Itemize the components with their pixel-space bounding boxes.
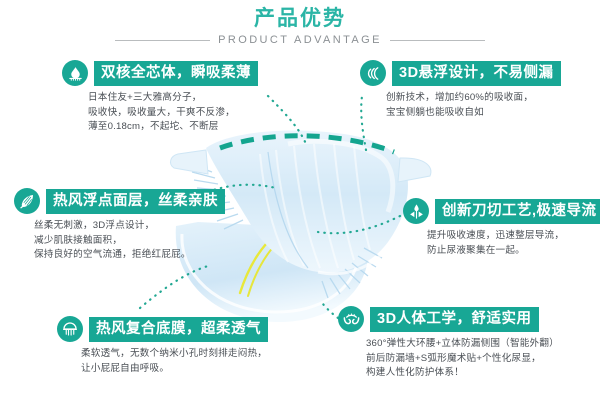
- feature-composite-base-film[interactable]: 热风复合底膜，超柔透气 柔软透气，无数个纳米小孔时刻排走闷热， 让小屁屁自由呼吸…: [57, 316, 268, 376]
- feature-heading: 3D悬浮设计，不易侧漏: [392, 61, 561, 86]
- fastener-tab-left: [171, 150, 208, 174]
- infographic-canvas: 产品优势 PRODUCT ADVANTAGE: [0, 0, 600, 401]
- feature-body: 日本住友+三大雅高分子， 吸收快，吸收量大，干爽不反渗， 薄至0.18cm，不起…: [88, 91, 258, 135]
- breathable-cloud-icon: [57, 316, 83, 342]
- feature-heading-row: 双核全芯体，瞬吸柔薄: [62, 60, 258, 86]
- ergonomic-waist-icon: [338, 306, 364, 332]
- feature-heading-row: 热风复合底膜，超柔透气: [57, 316, 268, 342]
- feature-heading: 3D人体工学，舒适实用: [370, 307, 539, 332]
- page-subtitle: PRODUCT ADVANTAGE: [218, 34, 382, 46]
- subtitle-row: PRODUCT ADVANTAGE: [0, 34, 600, 46]
- feature-body: 丝柔无刺激，3D浮点设计， 减少肌肤接触面积， 保持良好的空气流通，拒绝红屁屁。: [34, 219, 225, 263]
- arc-waves-icon: [360, 60, 386, 86]
- feature-heading: 双核全芯体，瞬吸柔薄: [94, 61, 258, 86]
- feature-body: 创新技术，增加约60%的吸收面， 宝宝侧躺也能吸收自如: [386, 91, 561, 120]
- feather-icon: [14, 188, 40, 214]
- absorb-droplet-icon: [62, 60, 88, 86]
- flow-channel-icon: [403, 198, 429, 224]
- feature-dual-core[interactable]: 双核全芯体，瞬吸柔薄 日本住友+三大雅高分子， 吸收快，吸收量大，干爽不反渗， …: [62, 60, 258, 135]
- feature-heading-row: 3D人体工学，舒适实用: [338, 306, 559, 332]
- subtitle-rule-right: [390, 40, 485, 41]
- feature-heading-row: 3D悬浮设计，不易侧漏: [360, 60, 561, 86]
- feature-heading-row: 热风浮点面层，丝柔亲肤: [14, 188, 225, 214]
- feature-knife-cut[interactable]: 创新刀切工艺,极速导流 提升吸收速度，迅速整层导流， 防止尿液聚集在一起。: [403, 198, 600, 258]
- feature-heading: 热风复合底膜，超柔透气: [89, 317, 268, 342]
- fastener-tab-right: [398, 158, 431, 182]
- feature-3d-ergonomics[interactable]: 3D人体工学，舒适实用 360°弹性大环腰+立体防漏侧围（智能外翻） 前后防漏墙…: [338, 306, 559, 381]
- subtitle-rule-left: [115, 40, 210, 41]
- feature-body: 柔软透气，无数个纳米小孔时刻排走闷热， 让小屁屁自由呼吸。: [81, 347, 268, 376]
- feature-heading: 热风浮点面层，丝柔亲肤: [46, 189, 225, 214]
- feature-heading: 创新刀切工艺,极速导流: [435, 199, 600, 224]
- feature-3d-suspension[interactable]: 3D悬浮设计，不易侧漏 创新技术，增加约60%的吸收面， 宝宝侧躺也能吸收自如: [360, 60, 561, 120]
- page-header: 产品优势 PRODUCT ADVANTAGE: [0, 6, 600, 46]
- feature-heading-row: 创新刀切工艺,极速导流: [403, 198, 600, 224]
- feature-body: 360°弹性大环腰+立体防漏侧围（智能外翻） 前后防漏墙+S弧形魔术贴+个性化尿…: [366, 337, 559, 381]
- feature-body: 提升吸收速度，迅速整层导流， 防止尿液聚集在一起。: [427, 229, 600, 258]
- feature-hot-air-surface[interactable]: 热风浮点面层，丝柔亲肤 丝柔无刺激，3D浮点设计， 减少肌肤接触面积， 保持良好…: [14, 188, 225, 263]
- page-title: 产品优势: [0, 6, 600, 32]
